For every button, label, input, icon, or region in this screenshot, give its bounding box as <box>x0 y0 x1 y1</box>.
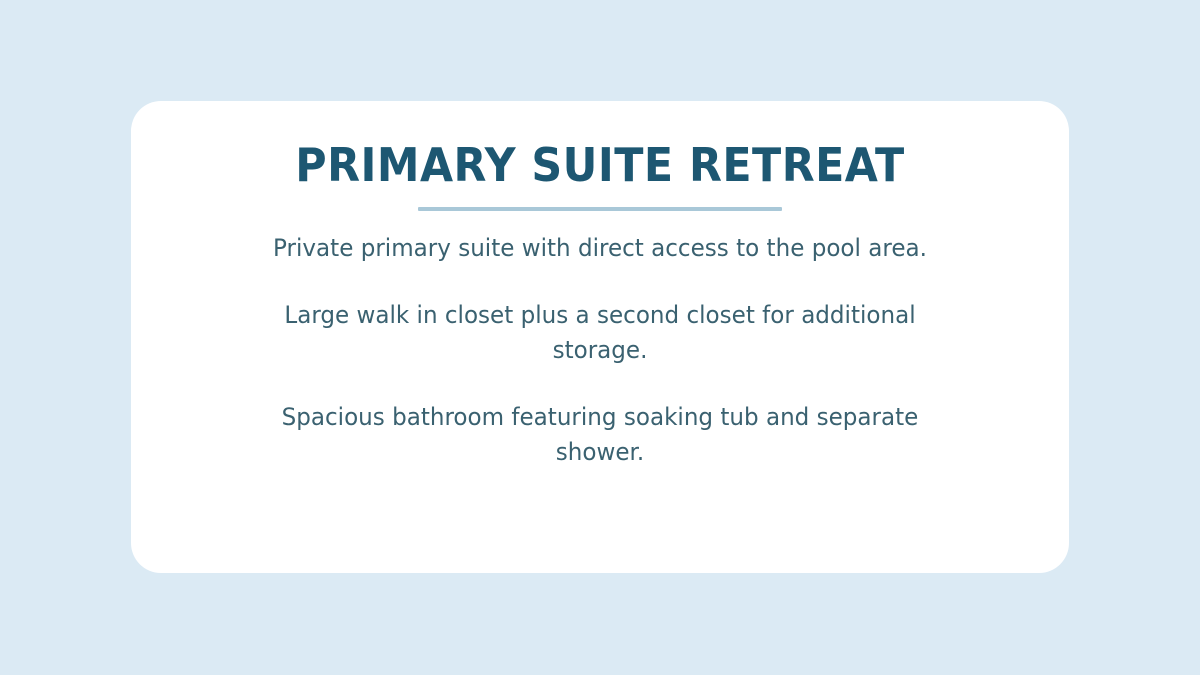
feature-paragraph-3: Spacious bathroom featuring soaking tub … <box>245 400 955 470</box>
content-card: PRIMARY SUITE RETREAT Private primary su… <box>131 101 1069 573</box>
page-title: PRIMARY SUITE RETREAT <box>164 137 1036 193</box>
slide-canvas: PRIMARY SUITE RETREAT Private primary su… <box>0 0 1200 675</box>
feature-paragraph-1: Private primary suite with direct access… <box>245 231 955 266</box>
body-text-block: Private primary suite with direct access… <box>230 211 970 470</box>
feature-paragraph-2: Large walk in closet plus a second close… <box>245 298 955 368</box>
card-content: PRIMARY SUITE RETREAT Private primary su… <box>131 101 1069 470</box>
